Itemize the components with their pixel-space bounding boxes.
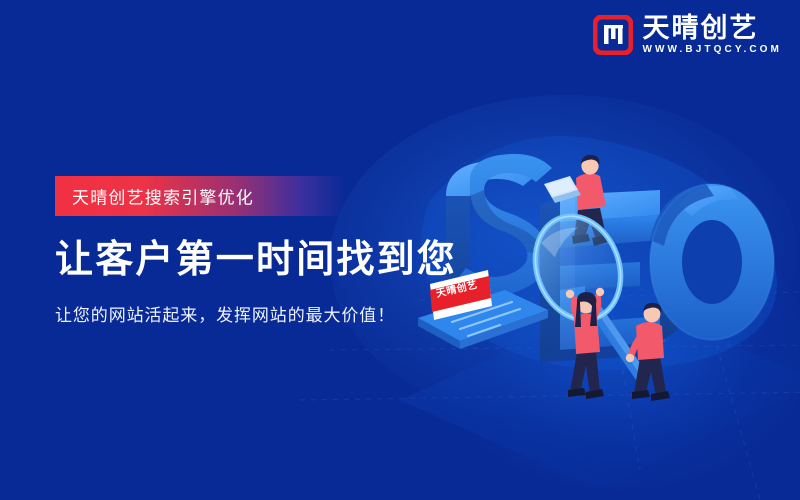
logo-website-url: WWW.BJTQCY.COM [642,45,782,55]
tagline-banner: 天晴创艺搜索引擎优化 [55,176,345,216]
tianqing-square-logo-icon [593,15,633,55]
hero-subtitle: 让您的网站活起来，发挥网站的最大价值！ [55,305,485,327]
seo-promo-banner: 天晴创艺 [0,0,800,500]
site-logo[interactable]: 天晴创艺 WWW.BJTQCY.COM [593,14,782,55]
hero-copy-block: 天晴创艺搜索引擎优化 让客户第一时间找到您 让您的网站活起来，发挥网站的最大价值… [55,176,485,327]
tagline-text: 天晴创艺搜索引擎优化 [72,184,254,209]
seo-letter-o [650,184,774,342]
logo-company-name: 天晴创艺 [642,14,758,42]
hero-headline: 让客户第一时间找到您 [55,239,485,283]
